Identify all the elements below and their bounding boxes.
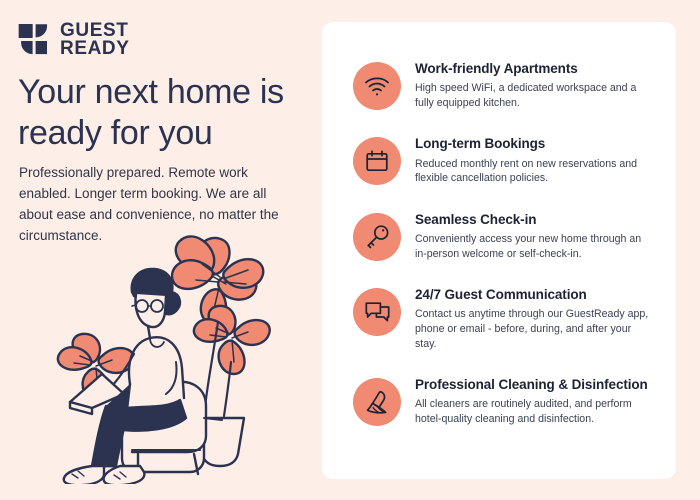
page-headline: Your next home is ready for you bbox=[18, 72, 313, 155]
feature-description: All cleaners are routinely audited, and … bbox=[415, 397, 653, 426]
feature-title: 24/7 Guest Communication bbox=[415, 287, 653, 303]
feature-item-work-friendly-apartments[interactable]: Work-friendly Apartments High speed WiFi… bbox=[353, 60, 653, 110]
brand-name-line2: READY bbox=[60, 40, 130, 58]
feature-item-guest-communication[interactable]: 24/7 Guest Communication Contact us anyt… bbox=[353, 286, 653, 351]
feature-description: Conveniently access your new home throug… bbox=[415, 232, 653, 261]
brand-logo[interactable]: GUEST READY bbox=[18, 22, 130, 58]
feature-list: Work-friendly Apartments High speed WiFi… bbox=[353, 60, 653, 427]
feature-item-seamless-check-in[interactable]: Seamless Check-in Conveniently access yo… bbox=[353, 211, 653, 261]
left-column: GUEST READY Your next home is ready for … bbox=[0, 0, 322, 500]
hero-illustration bbox=[26, 222, 316, 484]
feature-text: Seamless Check-in Conveniently access yo… bbox=[415, 211, 653, 261]
feature-item-long-term-bookings[interactable]: Long-term Bookings Reduced monthly rent … bbox=[353, 135, 653, 185]
guestready-quadrant-logo-icon bbox=[18, 24, 51, 55]
wifi-icon bbox=[353, 62, 401, 110]
brand-wordmark: GUEST READY bbox=[60, 22, 130, 58]
chat-bubbles-icon bbox=[353, 288, 401, 336]
feature-text: Professional Cleaning & Disinfection All… bbox=[415, 376, 653, 426]
feature-title: Seamless Check-in bbox=[415, 212, 653, 228]
feature-item-professional-cleaning[interactable]: Professional Cleaning & Disinfection All… bbox=[353, 376, 653, 426]
feature-description: Contact us anytime through our GuestRead… bbox=[415, 307, 653, 351]
feature-text: Work-friendly Apartments High speed WiFi… bbox=[415, 60, 653, 110]
feature-title: Long-term Bookings bbox=[415, 136, 653, 152]
feature-description: Reduced monthly rent on new reservations… bbox=[415, 157, 653, 186]
key-icon bbox=[353, 213, 401, 261]
feature-title: Professional Cleaning & Disinfection bbox=[415, 377, 653, 393]
feature-text: Long-term Bookings Reduced monthly rent … bbox=[415, 135, 653, 185]
feature-description: High speed WiFi, a dedicated workspace a… bbox=[415, 81, 653, 110]
calendar-icon bbox=[353, 137, 401, 185]
feature-text: 24/7 Guest Communication Contact us anyt… bbox=[415, 286, 653, 351]
feature-card: Work-friendly Apartments High speed WiFi… bbox=[322, 22, 676, 479]
broom-icon bbox=[353, 378, 401, 426]
feature-title: Work-friendly Apartments bbox=[415, 61, 653, 77]
